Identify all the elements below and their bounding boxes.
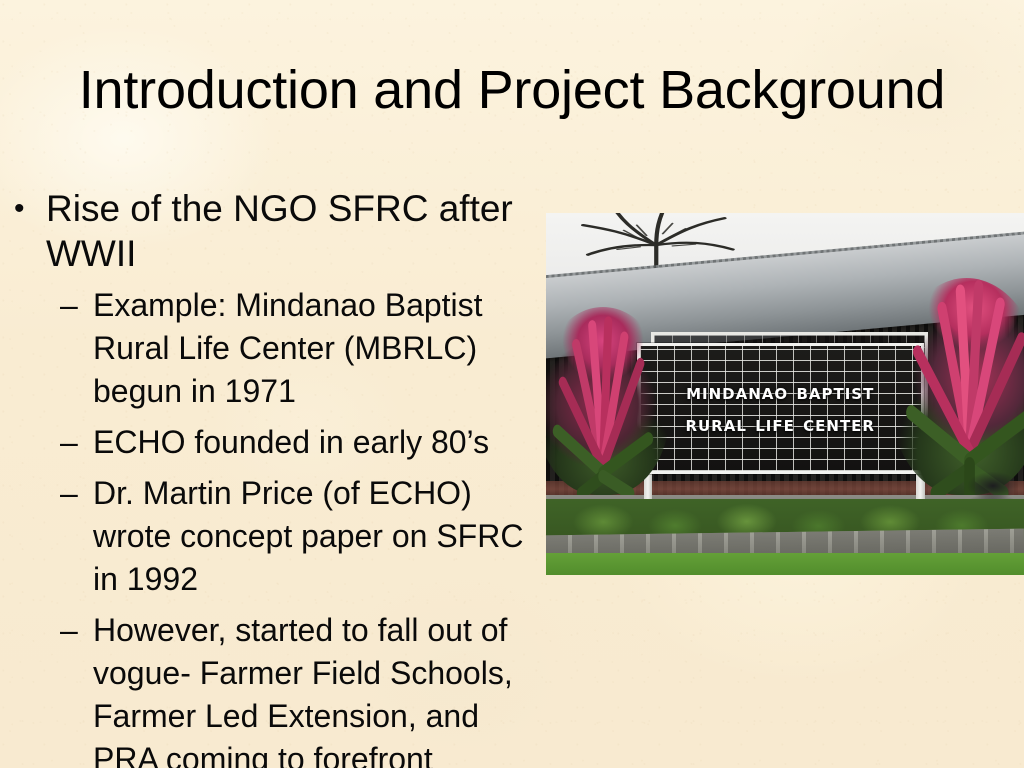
sign-text: Mindanao Baptist Rural Life Center (637, 343, 924, 473)
bullet-level2: – However, started to fall out of vogue-… (8, 609, 548, 768)
grass-strip (546, 553, 1024, 575)
bullet-level2: – ECHO founded in early 80’s (8, 421, 548, 464)
bullet-marker-dash: – (60, 421, 78, 464)
slide: Introduction and Project Background • Ri… (0, 0, 1024, 768)
bullet-text: However, started to fall out of vogue- F… (93, 612, 513, 768)
slide-title: Introduction and Project Background (0, 58, 1024, 122)
bullet-marker-dash: – (60, 609, 78, 652)
bullet-marker-dash: – (60, 472, 78, 515)
slide-body: • Rise of the NGO SFRC after WWII – Exam… (8, 186, 548, 768)
bullet-text: ECHO founded in early 80’s (93, 424, 489, 460)
sign-line-1: Mindanao Baptist (686, 382, 874, 403)
cordyline-plant-right (890, 278, 1024, 495)
bullet-level2: – Example: Mindanao Baptist Rural Life C… (8, 284, 548, 413)
mindanao-baptist-rural-life-center-photo: Mindanao Baptist Rural Life Center (546, 213, 1024, 575)
bullet-level2: – Dr. Martin Price (of ECHO) wrote conce… (8, 472, 548, 601)
bullet-marker-dash: – (60, 284, 78, 327)
bullet-level1: • Rise of the NGO SFRC after WWII (8, 186, 548, 276)
bullet-text: Dr. Martin Price (of ECHO) wrote concept… (93, 475, 523, 597)
cordyline-plant-left (546, 307, 670, 495)
bullet-marker-dot: • (14, 186, 25, 231)
bullet-text: Example: Mindanao Baptist Rural Life Cen… (93, 287, 483, 409)
sign-line-2: Rural Life Center (685, 414, 875, 435)
bullet-text: Rise of the NGO SFRC after WWII (46, 188, 513, 274)
